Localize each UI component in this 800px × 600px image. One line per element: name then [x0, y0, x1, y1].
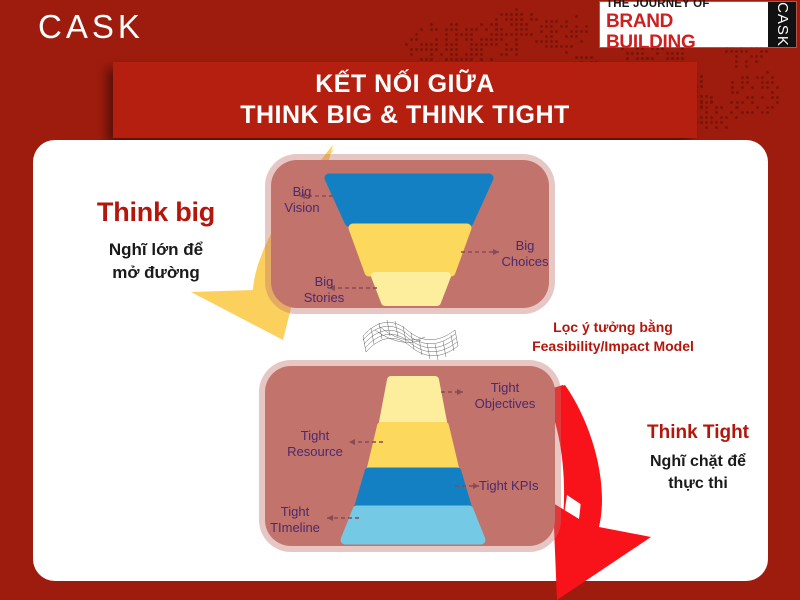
content-card: BigVision BigChoices BigStories — [33, 140, 768, 581]
cask-wordmark: CASK — [38, 8, 144, 46]
mesh-surface-icon — [355, 310, 467, 362]
journey-logo-side-strip: CASK — [768, 2, 796, 47]
think-big-title: Think big — [51, 196, 261, 228]
funnel-level-0-shape — [329, 178, 489, 222]
page-title-line1: KẾT NỐI GIỮA — [315, 69, 495, 100]
think-tight-pyramid-panel: TightObjectives TightResource Tight KPIs… — [265, 366, 555, 546]
pyramid-level-0-shape — [383, 380, 443, 422]
journey-of-brand-building-logo: THE JOURNEY OF BRAND BUILDING CASK — [600, 2, 796, 47]
pyramid-level-2-shape — [359, 472, 467, 506]
think-tight-subtitle: Nghĩ chặt đểthực thi — [603, 451, 793, 495]
pyramid-label-tight-objectives: TightObjectives — [461, 380, 549, 412]
pyramid-label-tight-kpis: Tight KPIs — [479, 478, 555, 494]
think-tight-text-block: Think Tight Nghĩ chặt đểthực thi — [603, 420, 793, 495]
pyramid-label-tight-resource: TightResource — [277, 428, 353, 460]
funnel-label-big-vision: BigVision — [269, 184, 335, 216]
pyramid-level-3-shape — [345, 510, 481, 540]
think-big-text-block: Think big Nghĩ lớn đểmở đường — [51, 196, 261, 284]
funnel-label-big-stories: BigStories — [291, 274, 357, 306]
pyramid-level-1-shape — [371, 426, 455, 468]
think-big-subtitle: Nghĩ lớn đểmở đường — [51, 238, 261, 284]
journey-logo-side-text: CASK — [774, 2, 791, 47]
slide-canvas: CASK THE JOURNEY OF BRAND BUILDING CASK … — [0, 0, 800, 600]
think-big-funnel-panel: BigVision BigChoices BigStories — [271, 160, 549, 308]
funnel-label-big-choices: BigChoices — [487, 238, 563, 270]
think-tight-title: Think Tight — [603, 420, 793, 445]
pyramid-label-tight-timeline: TightTImeline — [257, 504, 333, 536]
funnel-level-1-shape — [353, 228, 467, 272]
journey-logo-text: THE JOURNEY OF BRAND BUILDING — [600, 2, 768, 47]
journey-logo-line1: THE JOURNEY OF — [606, 0, 764, 11]
filter-caption: Lọc ý tưởng bằngFeasibility/Impact Model — [488, 318, 738, 356]
title-banner: KẾT NỐI GIỮA THINK BIG & THINK TIGHT — [113, 62, 697, 138]
journey-logo-line2: BRAND BUILDING — [606, 11, 764, 53]
page-title-line2: THINK BIG & THINK TIGHT — [240, 100, 570, 131]
funnel-level-2-shape — [375, 276, 447, 302]
